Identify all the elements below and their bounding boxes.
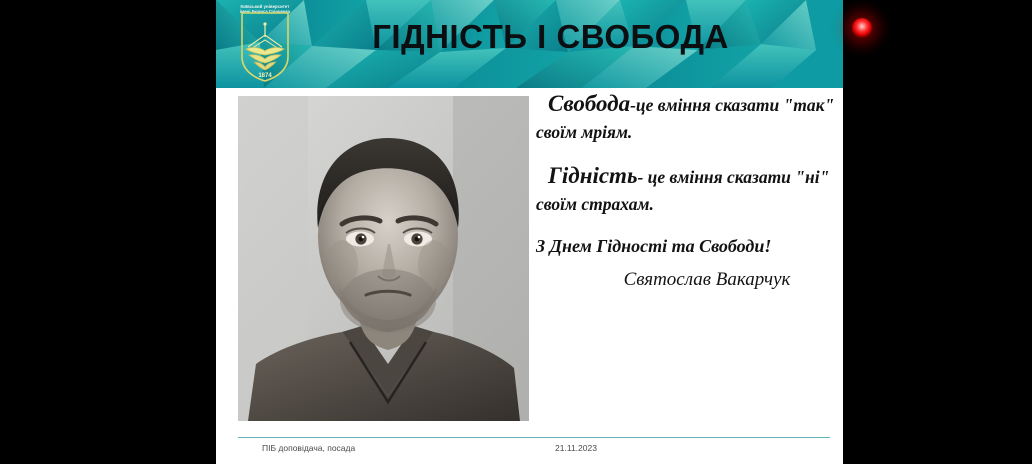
footer-divider: [238, 437, 830, 438]
slide-canvas: ГІДНІСТЬ І СВОБОДА Київський університет…: [216, 0, 843, 464]
presentation-stage: ГІДНІСТЬ І СВОБОДА Київський університет…: [0, 0, 1032, 464]
quote-closing-greeting: З Днем Гідності та Свободи!: [536, 234, 836, 259]
university-emblem-icon: 1874: [240, 11, 290, 83]
portrait-photo: [238, 96, 529, 421]
quote-lead-dignity: Гідність: [548, 163, 637, 188]
slide-header: ГІДНІСТЬ І СВОБОДА: [216, 0, 843, 88]
quote-paragraph-freedom: Свобода-це вміння сказати "так" своїм мр…: [536, 90, 836, 146]
svg-text:1874: 1874: [258, 73, 272, 79]
page-title: ГІДНІСТЬ І СВОБОДА: [216, 17, 843, 57]
quote-lead-freedom: Свобода: [548, 91, 630, 116]
recording-indicator-icon: [852, 18, 872, 38]
quote-attribution: Святослав Вакарчук: [536, 269, 836, 291]
footer-date: 21.11.2023: [238, 443, 830, 453]
university-logo: Київський університет імені Бориса Грінч…: [225, 0, 303, 88]
quote-block: Свобода-це вміння сказати "так" своїм мр…: [536, 90, 836, 291]
slide-footer: ПІБ доповідача, посада 21.11.2023: [238, 443, 830, 457]
quote-paragraph-dignity: Гідність- це вміння сказати "ні" своїм с…: [536, 162, 836, 218]
portrait-photo-image: [238, 96, 529, 421]
